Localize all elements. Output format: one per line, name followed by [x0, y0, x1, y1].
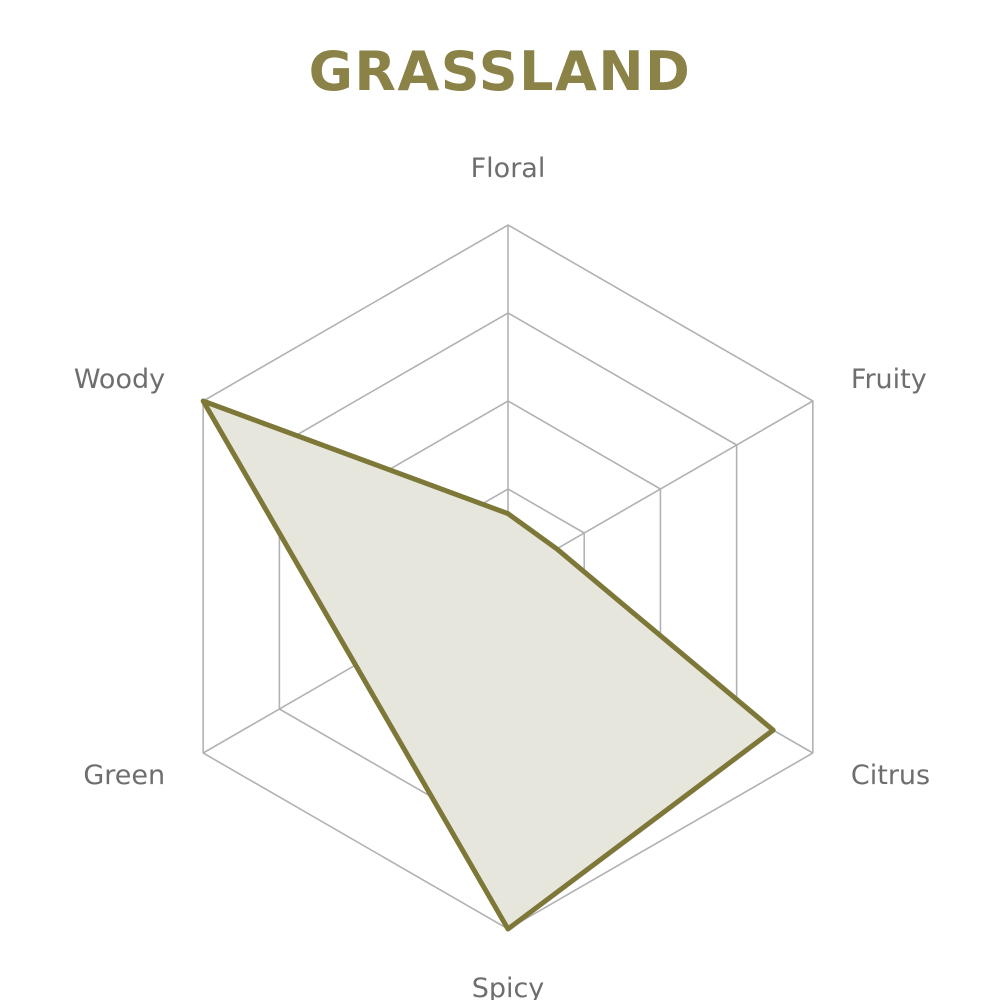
- series-polygon-grassland: [203, 401, 773, 929]
- radar-series-group: [203, 401, 773, 929]
- axis-label-floral: Floral: [471, 153, 546, 184]
- axis-label-green: Green: [83, 760, 165, 791]
- axis-label-woody: Woody: [74, 364, 165, 395]
- axis-label-spicy: Spicy: [472, 973, 545, 1000]
- radar-chart-figure: GRASSLAND FloralFruityCitrusSpicyGreenWo…: [0, 0, 1000, 1000]
- axis-label-citrus: Citrus: [851, 760, 930, 791]
- radar-chart-svg: FloralFruityCitrusSpicyGreenWoody: [0, 0, 1000, 1000]
- axis-label-fruity: Fruity: [851, 364, 927, 395]
